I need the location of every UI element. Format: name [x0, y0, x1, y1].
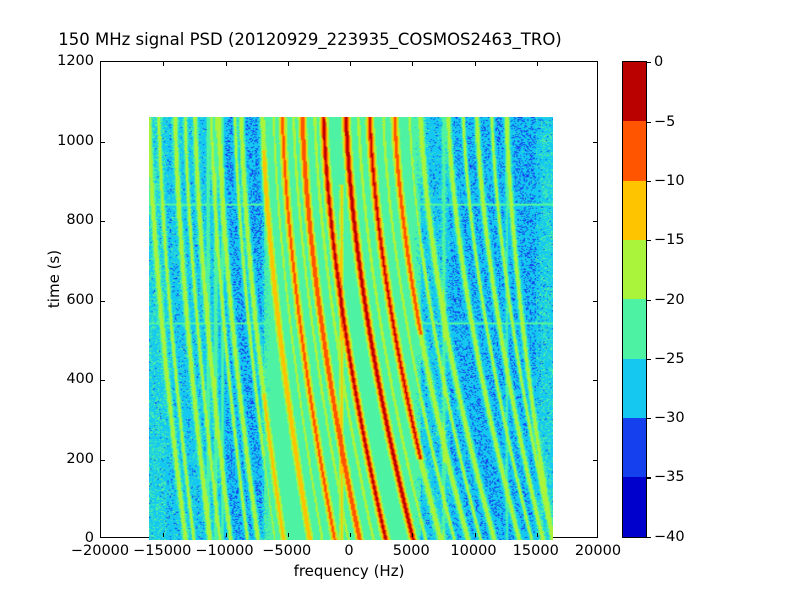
plot-axes: [100, 61, 598, 538]
colorbar-tick-label: −35: [654, 469, 685, 485]
y-tick: [101, 380, 105, 381]
x-tick-top: [288, 62, 289, 66]
y-tick-right: [593, 142, 597, 143]
colorbar-tick-label: −10: [654, 173, 685, 189]
x-tick: [537, 533, 538, 537]
x-tick-label: 0: [344, 543, 353, 559]
figure-canvas: 150 MHz signal PSD (20120929_223935_COSM…: [0, 0, 800, 600]
y-tick-right: [593, 460, 597, 461]
x-tick-label: −10000: [195, 543, 253, 559]
y-tick-label: 0: [38, 530, 94, 546]
colorbar-tick: [647, 359, 651, 360]
y-tick-label: 1000: [38, 133, 94, 149]
colorbar-band: [623, 240, 646, 300]
colorbar-tick: [647, 477, 651, 478]
colorbar-band: [623, 359, 646, 419]
colorbar-band: [623, 418, 646, 478]
y-tick-label: 1200: [38, 53, 94, 69]
x-tick-label: 20000: [575, 543, 621, 559]
spectrogram-image: [149, 117, 553, 540]
colorbar-tick-label: −30: [654, 410, 685, 426]
colorbar: [622, 61, 647, 538]
x-tick: [475, 533, 476, 537]
y-tick: [101, 301, 105, 302]
colorbar-tick: [647, 300, 651, 301]
x-tick: [412, 533, 413, 537]
y-tick-label: 400: [38, 371, 94, 387]
y-tick-right: [593, 221, 597, 222]
colorbar-tick: [647, 122, 651, 123]
x-tick: [350, 533, 351, 537]
colorbar-tick: [647, 418, 651, 419]
x-tick: [288, 533, 289, 537]
page-title: 150 MHz signal PSD (20120929_223935_COSM…: [0, 30, 620, 50]
x-tick-top: [163, 62, 164, 66]
x-tick-label: −15000: [133, 543, 191, 559]
colorbar-tick-label: −40: [654, 529, 685, 545]
colorbar-tick: [647, 537, 651, 538]
colorbar-tick-label: 0: [654, 54, 663, 70]
colorbar-band: [623, 62, 646, 122]
x-tick-top: [350, 62, 351, 66]
x-tick-label: 10000: [450, 543, 496, 559]
x-tick-label: 15000: [513, 543, 559, 559]
colorbar-band: [623, 181, 646, 241]
y-tick-right: [593, 301, 597, 302]
colorbar-tick: [647, 181, 651, 182]
colorbar-band: [623, 121, 646, 181]
colorbar-band: [623, 299, 646, 359]
x-tick: [163, 533, 164, 537]
colorbar-tick-label: −25: [654, 351, 685, 367]
x-tick-top: [412, 62, 413, 66]
y-tick-label: 200: [38, 451, 94, 467]
y-tick: [101, 221, 105, 222]
colorbar-band: [623, 477, 646, 537]
y-tick: [101, 142, 105, 143]
x-axis-label: frequency (Hz): [100, 562, 598, 580]
x-tick-top: [226, 62, 227, 66]
x-tick-label: −5000: [262, 543, 311, 559]
colorbar-tick: [647, 240, 651, 241]
x-tick-top: [475, 62, 476, 66]
y-tick-right: [593, 380, 597, 381]
y-tick: [101, 460, 105, 461]
x-tick-label: 5000: [393, 543, 430, 559]
colorbar-tick: [647, 62, 651, 63]
x-tick-top: [537, 62, 538, 66]
x-tick: [226, 533, 227, 537]
colorbar-tick-label: −15: [654, 232, 685, 248]
y-axis-label: time (s): [45, 219, 63, 339]
colorbar-tick-label: −20: [654, 292, 685, 308]
colorbar-tick-label: −5: [654, 114, 675, 130]
